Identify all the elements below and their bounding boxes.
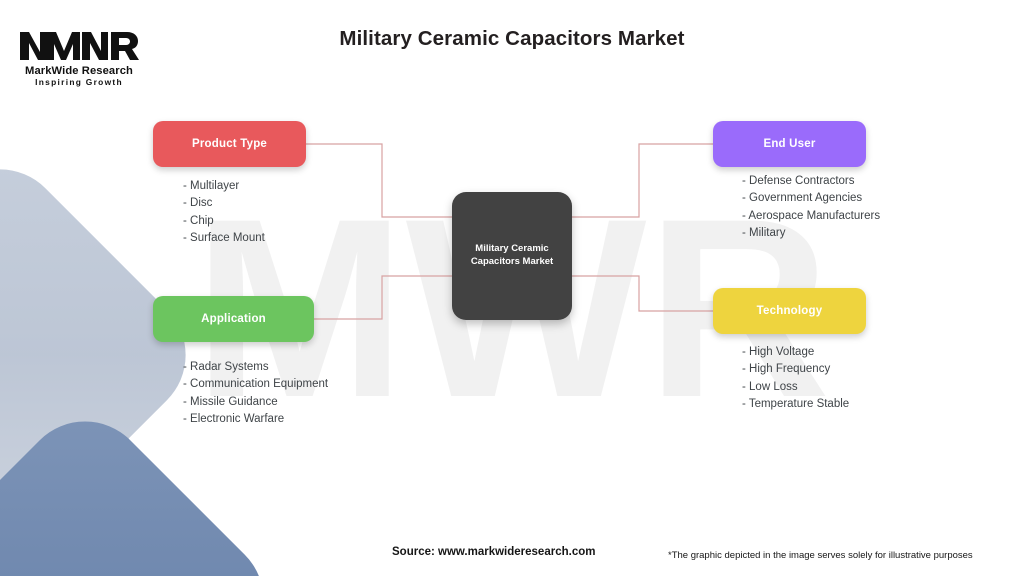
list-item: - Defense Contractors <box>742 173 880 190</box>
list-item: - Multilayer <box>183 178 265 195</box>
list-product-type: - Multilayer - Disc - Chip - Surface Mou… <box>183 178 265 247</box>
list-technology: - High Voltage - High Frequency - Low Lo… <box>742 344 849 413</box>
connector-end-user <box>572 144 713 217</box>
decorative-shape-light <box>0 143 212 567</box>
list-item: - Aerospace Manufacturers <box>742 208 880 225</box>
node-application-label: Application <box>201 313 266 325</box>
list-item: - Electronic Warfare <box>183 411 328 428</box>
list-item: - Radar Systems <box>183 359 328 376</box>
footer-source[interactable]: Source: www.markwideresearch.com <box>392 546 595 558</box>
node-center-label-line2: Capacitors Market <box>471 256 553 267</box>
node-center-market[interactable]: Military Ceramic Capacitors Market <box>452 192 572 320</box>
connector-product-type <box>306 144 452 217</box>
list-item: - Communication Equipment <box>183 376 328 393</box>
list-item: - Low Loss <box>742 379 849 396</box>
node-center-label: Military Ceramic Capacitors Market <box>463 243 561 269</box>
node-product-type-label: Product Type <box>192 138 267 150</box>
list-item: - Government Agencies <box>742 190 880 207</box>
list-item: - High Frequency <box>742 361 849 378</box>
node-end-user[interactable]: End User <box>713 121 866 167</box>
node-technology[interactable]: Technology <box>713 288 866 334</box>
list-item: - Military <box>742 225 880 242</box>
connector-application <box>314 276 452 319</box>
logo-name: MarkWide Research <box>25 65 133 77</box>
list-end-user: - Defense Contractors - Government Agenc… <box>742 173 880 242</box>
node-technology-label: Technology <box>757 305 823 317</box>
node-application[interactable]: Application <box>153 296 314 342</box>
node-center-label-line1: Military Ceramic <box>475 243 548 254</box>
list-item: - Temperature Stable <box>742 396 849 413</box>
page-title: Military Ceramic Capacitors Market <box>0 27 1024 51</box>
list-item: - Missile Guidance <box>183 394 328 411</box>
list-item: - Chip <box>183 213 265 230</box>
list-item: - Disc <box>183 195 265 212</box>
logo-tagline: Inspiring Growth <box>35 77 123 87</box>
list-application: - Radar Systems - Communication Equipmen… <box>183 359 328 428</box>
node-product-type[interactable]: Product Type <box>153 121 306 167</box>
connector-technology <box>572 276 713 311</box>
list-item: - Surface Mount <box>183 230 265 247</box>
node-end-user-label: End User <box>763 138 815 150</box>
footer-disclaimer: *The graphic depicted in the image serve… <box>668 550 973 561</box>
list-item: - High Voltage <box>742 344 849 361</box>
infographic-canvas: MWR MarkWide Research Inspiring Growth M… <box>0 0 1024 576</box>
